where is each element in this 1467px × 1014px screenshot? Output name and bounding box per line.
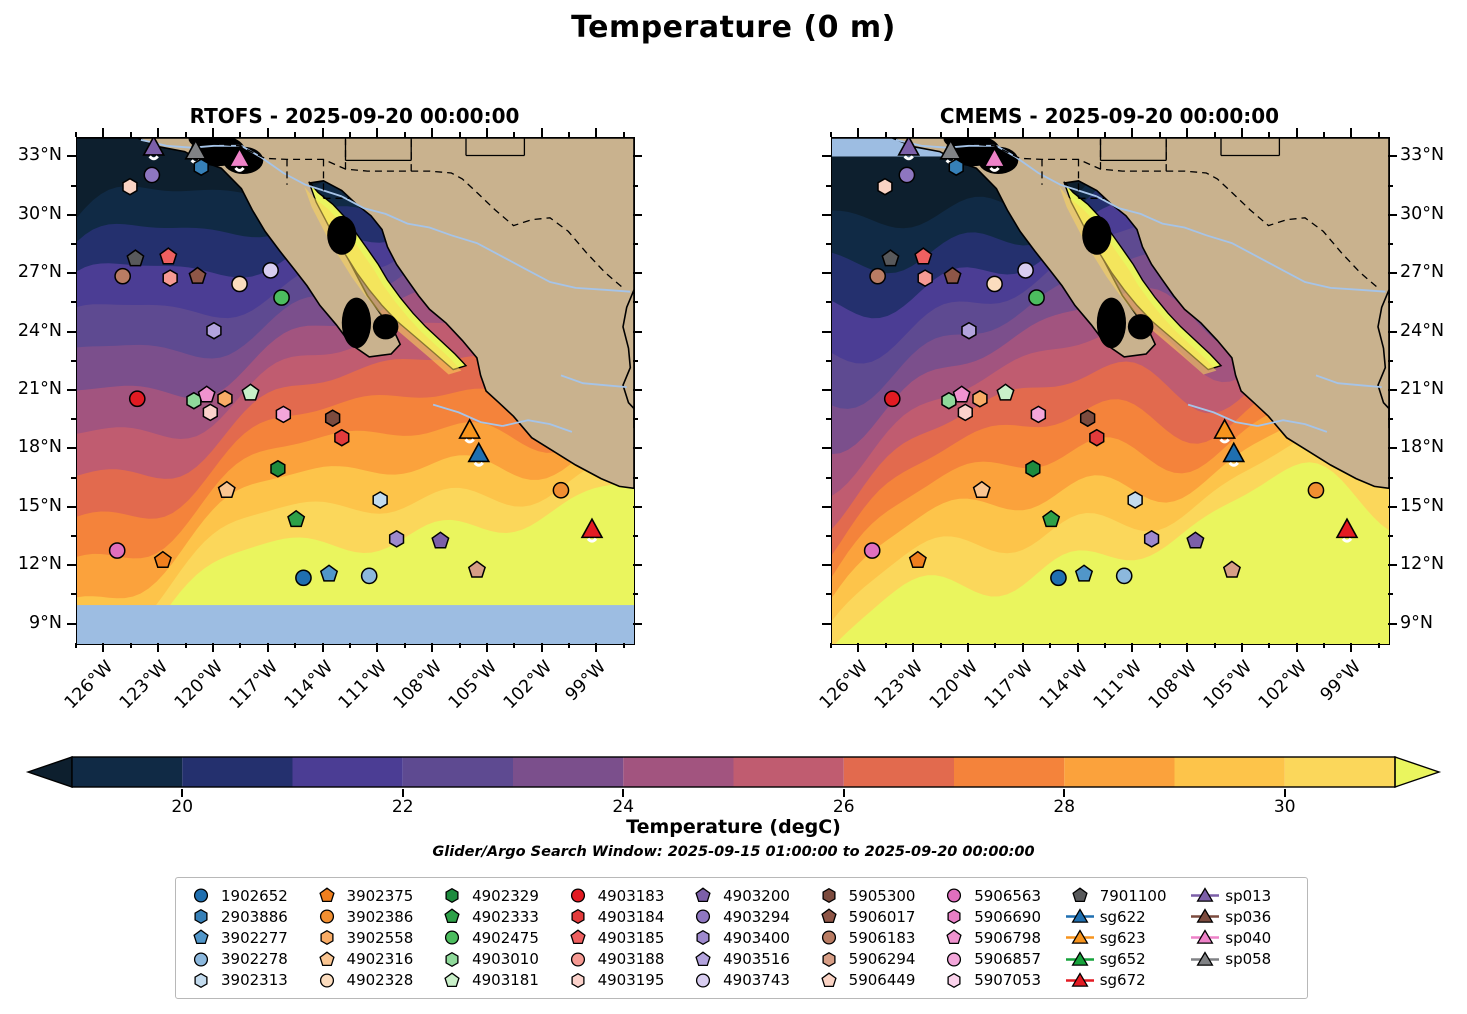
- legend-item-5906690[interactable]: 5906690: [937, 906, 1063, 927]
- lat-tick-major: [822, 564, 831, 566]
- lon-tick-minor: [404, 643, 406, 648]
- lat-tick-major: [1388, 623, 1397, 625]
- lon-tick-minor: [830, 132, 832, 137]
- lon-tick-minor: [623, 132, 625, 137]
- legend-column: 49031834903184490318549031884903195: [561, 885, 687, 991]
- map-marker: [962, 323, 976, 339]
- legend-label: 4903181: [469, 971, 539, 989]
- lat-tick-minor: [71, 301, 76, 303]
- lat-tick-minor: [826, 360, 831, 362]
- lat-label: 21°N: [1400, 379, 1467, 399]
- lat-tick-major: [67, 447, 76, 449]
- legend-marker-pentagon-icon: [937, 927, 971, 948]
- lon-tick-minor: [1268, 132, 1270, 137]
- legend-label: 4903183: [595, 887, 665, 905]
- legend-item-3902277[interactable]: 3902277: [184, 927, 310, 948]
- legend-item-5907053[interactable]: 5907053: [937, 970, 1063, 991]
- lat-tick-minor: [826, 185, 831, 187]
- lon-tick-major: [1296, 128, 1298, 137]
- lon-tick-major: [1241, 643, 1243, 652]
- lon-tick-minor: [940, 643, 942, 648]
- legend-item-5906017[interactable]: 5906017: [812, 906, 938, 927]
- legend-item-4903184[interactable]: 4903184: [561, 906, 687, 927]
- lon-tick-major: [431, 643, 433, 652]
- lon-tick-major: [1186, 128, 1188, 137]
- lon-tick-minor: [1159, 132, 1161, 137]
- legend-marker-pentagon-icon: [812, 906, 846, 927]
- legend-label: 1902652: [218, 887, 288, 905]
- panel-title-cmems: CMEMS - 2025-09-20 00:00:00: [831, 104, 1388, 128]
- legend-item-3902313[interactable]: 3902313: [184, 970, 310, 991]
- legend-marker-triangle-icon: [1063, 949, 1097, 970]
- lat-tick-major: [633, 564, 642, 566]
- page-title: Temperature (0 m): [0, 10, 1467, 45]
- legend-label: 4902329: [469, 887, 539, 905]
- lat-tick-major: [633, 389, 642, 391]
- map-marker: [130, 391, 145, 406]
- lat-label: 24°N: [1400, 321, 1467, 341]
- lat-tick-minor: [1388, 593, 1393, 595]
- map-marker: [326, 410, 340, 426]
- lat-tick-minor: [1388, 185, 1393, 187]
- lon-tick-major: [912, 128, 914, 137]
- lat-tick-major: [1388, 214, 1397, 216]
- legend-marker-pentagon-icon: [435, 906, 469, 927]
- lat-tick-minor: [633, 185, 638, 187]
- legend-item-4903294[interactable]: 4903294: [686, 906, 812, 927]
- lat-tick-minor: [1388, 477, 1393, 479]
- legend-marker-hexagon-icon: [937, 906, 971, 927]
- legend-item-5906294[interactable]: 5906294: [812, 949, 938, 970]
- lon-tick-minor: [885, 643, 887, 648]
- lon-tick-minor: [1214, 643, 1216, 648]
- legend-item-1902652[interactable]: 1902652: [184, 885, 310, 906]
- map-marker: [276, 406, 290, 422]
- colorbar-tick: [622, 789, 624, 797]
- legend-item-4902333[interactable]: 4902333: [435, 906, 561, 927]
- platform-legend: 1902652290388639022773902278390231339023…: [175, 877, 1308, 999]
- lat-tick-major: [1388, 447, 1397, 449]
- lon-tick-major: [1241, 128, 1243, 137]
- legend-label: 4903294: [720, 908, 790, 926]
- lat-tick-minor: [1388, 418, 1393, 420]
- legend-item-sp040[interactable]: sp040: [1188, 927, 1299, 948]
- legend-label: 3902386: [344, 908, 414, 926]
- lon-tick-minor: [568, 643, 570, 648]
- legend-label: 3902278: [218, 950, 288, 968]
- lat-label: 30°N: [1400, 204, 1467, 224]
- colorbar-tick: [1063, 789, 1065, 797]
- lat-tick-minor: [633, 535, 638, 537]
- lat-tick-major: [633, 155, 642, 157]
- lon-tick-major: [541, 128, 543, 137]
- legend-item-4903516[interactable]: 4903516: [686, 949, 812, 970]
- lon-tick-major: [1077, 128, 1079, 137]
- legend-marker-hexagon-icon: [435, 949, 469, 970]
- legend-marker-triangle-icon: [1063, 970, 1097, 991]
- legend-item-5905300[interactable]: 5905300: [812, 885, 938, 906]
- legend-marker-hexagon-icon: [184, 906, 218, 927]
- legend-marker-circle-icon: [184, 885, 218, 906]
- legend-item-5906563[interactable]: 5906563: [937, 885, 1063, 906]
- map-marker: [1128, 492, 1142, 508]
- legend-label: 3902375: [344, 887, 414, 905]
- map-marker: [271, 461, 285, 477]
- lon-tick-minor: [623, 643, 625, 648]
- legend-marker-circle-icon: [561, 885, 595, 906]
- legend-label: 4903185: [595, 929, 665, 947]
- legend-marker-hexagon-icon: [435, 885, 469, 906]
- legend-label: 5906798: [971, 929, 1041, 947]
- legend-item-4903195[interactable]: 4903195: [561, 970, 687, 991]
- legend-label: 5906857: [971, 950, 1041, 968]
- lon-tick-minor: [130, 132, 132, 137]
- lon-tick-major: [102, 643, 104, 652]
- legend-marker-circle-icon: [937, 885, 971, 906]
- legend-item-3902278[interactable]: 3902278: [184, 949, 310, 970]
- lat-tick-major: [67, 389, 76, 391]
- lat-tick-minor: [71, 360, 76, 362]
- legend-label: sp058: [1222, 950, 1271, 968]
- map-marker: [335, 430, 349, 446]
- map-panel-cmems[interactable]: [831, 137, 1390, 645]
- lon-tick-minor: [239, 132, 241, 137]
- lon-tick-major: [157, 643, 159, 652]
- map-marker: [918, 270, 932, 286]
- lat-tick-major: [1388, 155, 1397, 157]
- search-window-subtitle: Glider/Argo Search Window: 2025-09-15 01…: [0, 844, 1467, 860]
- lat-tick-major: [633, 447, 642, 449]
- legend-marker-pentagon-icon: [435, 970, 469, 991]
- lat-tick-minor: [633, 418, 638, 420]
- lat-tick-minor: [71, 418, 76, 420]
- legend-item-3902558[interactable]: 3902558: [310, 927, 436, 948]
- map-marker: [1031, 406, 1045, 422]
- legend-label: sg652: [1097, 950, 1146, 968]
- lon-tick-minor: [1104, 643, 1106, 648]
- lat-tick-major: [822, 623, 831, 625]
- legend-marker-circle-icon: [435, 927, 469, 948]
- lon-tick-minor: [239, 643, 241, 648]
- lon-tick-major: [376, 643, 378, 652]
- legend-marker-hexagon-icon: [812, 949, 846, 970]
- lon-tick-minor: [1378, 643, 1380, 648]
- lon-tick-major: [212, 128, 214, 137]
- legend-item-5906798[interactable]: 5906798: [937, 927, 1063, 948]
- lat-tick-major: [67, 506, 76, 508]
- legend-item-4903400[interactable]: 4903400: [686, 927, 812, 948]
- lat-tick-major: [822, 331, 831, 333]
- legend-label: sp036: [1222, 908, 1271, 926]
- lon-tick-minor: [994, 132, 996, 137]
- legend-label: 2903886: [218, 908, 288, 926]
- lon-tick-minor: [130, 643, 132, 648]
- map-marker: [1117, 568, 1132, 583]
- lon-tick-minor: [513, 643, 515, 648]
- map-marker: [163, 270, 177, 286]
- legend-marker-pentagon-icon: [310, 885, 344, 906]
- panel-title-rtofs: RTOFS - 2025-09-20 00:00:00: [76, 104, 633, 128]
- legend-item-sg623[interactable]: sg623: [1063, 927, 1189, 948]
- lat-tick-major: [1388, 331, 1397, 333]
- legend-column: sp013sp036sp040sp058: [1188, 885, 1299, 991]
- map-marker: [1308, 483, 1323, 498]
- map-marker: [1026, 461, 1040, 477]
- lat-tick-minor: [1388, 360, 1393, 362]
- lat-tick-major: [633, 272, 642, 274]
- lat-tick-major: [67, 564, 76, 566]
- lon-tick-major: [595, 128, 597, 137]
- legend-label: 3902558: [344, 929, 414, 947]
- lon-tick-minor: [185, 132, 187, 137]
- lon-tick-minor: [885, 132, 887, 137]
- legend-marker-circle-icon: [310, 906, 344, 927]
- legend-marker-triangle-icon: [1188, 906, 1222, 927]
- legend-item-3902375[interactable]: 3902375: [310, 885, 436, 906]
- legend-marker-hexagon-icon: [686, 927, 720, 948]
- legend-item-4903743[interactable]: 4903743: [686, 970, 812, 991]
- lon-tick-minor: [459, 643, 461, 648]
- lon-tick-major: [1022, 128, 1024, 137]
- legend-item-sg622[interactable]: sg622: [1063, 906, 1189, 927]
- map-marker: [207, 323, 221, 339]
- legend-label: 4902475: [469, 929, 539, 947]
- map-marker: [1029, 290, 1044, 305]
- legend-label: 4903516: [720, 950, 790, 968]
- legend-label: 4903200: [720, 887, 790, 905]
- lon-tick-minor: [1049, 643, 1051, 648]
- lat-tick-minor: [826, 477, 831, 479]
- legend-label: 5906183: [846, 929, 916, 947]
- legend-item-4903188[interactable]: 4903188: [561, 949, 687, 970]
- legend-label: 4902328: [344, 971, 414, 989]
- legend-item-7901100[interactable]: 7901100: [1063, 885, 1189, 906]
- lat-label: 24°N: [0, 321, 62, 341]
- lon-tick-major: [1350, 643, 1352, 652]
- legend-label: 3902277: [218, 929, 288, 947]
- legend-label: 4903184: [595, 908, 665, 926]
- lat-label: 15°N: [0, 496, 62, 516]
- lon-tick-major: [912, 643, 914, 652]
- legend-item-4903185[interactable]: 4903185: [561, 927, 687, 948]
- lat-tick-major: [1388, 389, 1397, 391]
- lon-tick-minor: [1268, 643, 1270, 648]
- legend-marker-hexagon-icon: [812, 885, 846, 906]
- lat-tick-major: [822, 447, 831, 449]
- legend-item-5906857[interactable]: 5906857: [937, 949, 1063, 970]
- lon-tick-major: [541, 643, 543, 652]
- lon-tick-minor: [75, 643, 77, 648]
- map-marker: [553, 483, 568, 498]
- legend-marker-hexagon-icon: [310, 927, 344, 948]
- legend-item-3902386[interactable]: 3902386: [310, 906, 436, 927]
- legend-label: 5905300: [846, 887, 916, 905]
- lon-tick-major: [1186, 643, 1188, 652]
- map-marker: [1081, 410, 1095, 426]
- lat-tick-minor: [826, 535, 831, 537]
- lon-tick-minor: [513, 132, 515, 137]
- colorbar-tick: [181, 789, 183, 797]
- legend-column: 49023294902333490247549030104903181: [435, 885, 561, 991]
- lat-tick-minor: [633, 593, 638, 595]
- legend-marker-circle-icon: [184, 949, 218, 970]
- legend-item-5906183[interactable]: 5906183: [812, 927, 938, 948]
- map-marker: [115, 269, 130, 284]
- lat-tick-minor: [1388, 301, 1393, 303]
- lat-tick-minor: [826, 243, 831, 245]
- lon-tick-major: [1350, 128, 1352, 137]
- legend-marker-hexagon-icon: [184, 970, 218, 991]
- legend-column: 49032004903294490340049035164903743: [686, 885, 812, 991]
- lon-tick-major: [157, 128, 159, 137]
- legend-marker-pentagon-icon: [812, 970, 846, 991]
- legend-item-4902475[interactable]: 4902475: [435, 927, 561, 948]
- legend-column: 59053005906017590618359062945906449: [812, 885, 938, 991]
- lon-tick-minor: [75, 132, 77, 137]
- legend-item-sg672[interactable]: sg672: [1063, 970, 1189, 991]
- lon-tick-major: [212, 643, 214, 652]
- legend-item-4902329[interactable]: 4902329: [435, 885, 561, 906]
- lat-tick-major: [67, 214, 76, 216]
- lon-tick-minor: [185, 643, 187, 648]
- lat-tick-minor: [633, 243, 638, 245]
- legend-marker-triangle-icon: [1063, 927, 1097, 948]
- legend-marker-triangle-icon: [1188, 949, 1222, 970]
- lat-tick-minor: [633, 360, 638, 362]
- legend-item-sp058[interactable]: sp058: [1188, 949, 1299, 970]
- lat-label: 21°N: [0, 379, 62, 399]
- lat-tick-major: [67, 272, 76, 274]
- lat-label: 33°N: [1400, 145, 1467, 165]
- lat-tick-major: [633, 214, 642, 216]
- legend-marker-pentagon-icon: [686, 949, 720, 970]
- lon-tick-minor: [940, 132, 942, 137]
- map-marker: [110, 543, 125, 558]
- map-marker: [1051, 570, 1066, 585]
- map-marker: [218, 391, 232, 407]
- legend-column: 39023753902386390255849023164902328: [310, 885, 436, 991]
- legend-label: 4902316: [344, 950, 414, 968]
- lat-tick-major: [67, 623, 76, 625]
- legend-item-sp036[interactable]: sp036: [1188, 906, 1299, 927]
- legend-column: 59065635906690590679859068575907053: [937, 885, 1063, 991]
- colorbar-tick: [843, 789, 845, 797]
- legend-column: 7901100sg622sg623sg652sg672: [1063, 885, 1189, 991]
- lat-tick-minor: [633, 477, 638, 479]
- legend-label: 4903195: [595, 971, 665, 989]
- lon-tick-minor: [830, 643, 832, 648]
- legend-label: 7901100: [1097, 887, 1167, 905]
- lat-tick-minor: [1388, 535, 1393, 537]
- lat-tick-minor: [826, 301, 831, 303]
- legend-marker-pentagon-icon: [1063, 885, 1097, 906]
- lat-label: 18°N: [1400, 437, 1467, 457]
- legend-label: 4903188: [595, 950, 665, 968]
- lon-tick-major: [267, 128, 269, 137]
- lat-tick-minor: [826, 418, 831, 420]
- legend-label: 5906294: [846, 950, 916, 968]
- lat-label: 12°N: [1400, 554, 1467, 574]
- legend-label: sp040: [1222, 929, 1271, 947]
- lon-tick-major: [1077, 643, 1079, 652]
- lon-tick-minor: [404, 132, 406, 137]
- lon-tick-minor: [349, 643, 351, 648]
- legend-item-5906449[interactable]: 5906449: [812, 970, 938, 991]
- lat-label: 30°N: [0, 204, 62, 224]
- lat-tick-minor: [71, 185, 76, 187]
- lon-tick-major: [1296, 643, 1298, 652]
- legend-label: 5906690: [971, 908, 1041, 926]
- colorbar-title: Temperature (degC): [0, 816, 1467, 838]
- lon-tick-minor: [1104, 132, 1106, 137]
- colorbar-tick-label: 30: [1255, 797, 1315, 817]
- lat-tick-major: [633, 331, 642, 333]
- lat-label: 18°N: [0, 437, 62, 457]
- map-marker: [878, 179, 892, 195]
- lat-label: 12°N: [0, 554, 62, 574]
- colorbar-tick-label: 22: [373, 797, 433, 817]
- map-marker: [1090, 430, 1104, 446]
- lon-tick-minor: [1049, 132, 1051, 137]
- lon-tick-minor: [349, 132, 351, 137]
- colorbar-tick-label: 26: [814, 797, 874, 817]
- legend-item-4903183[interactable]: 4903183: [561, 885, 687, 906]
- lat-tick-minor: [71, 243, 76, 245]
- lat-tick-major: [822, 506, 831, 508]
- lon-tick-minor: [568, 132, 570, 137]
- colorbar-tick-label: 28: [1034, 797, 1094, 817]
- lat-tick-major: [633, 623, 642, 625]
- lat-label: 27°N: [1400, 262, 1467, 282]
- legend-marker-pentagon-icon: [310, 949, 344, 970]
- lat-tick-major: [822, 272, 831, 274]
- legend-item-4903010[interactable]: 4903010: [435, 949, 561, 970]
- legend-marker-hexagon-icon: [937, 970, 971, 991]
- map-marker: [123, 179, 137, 195]
- legend-item-sg652[interactable]: sg652: [1063, 949, 1189, 970]
- legend-item-4903200[interactable]: 4903200: [686, 885, 812, 906]
- lat-tick-minor: [1388, 243, 1393, 245]
- lat-label: 9°N: [0, 613, 62, 633]
- legend-label: 5906563: [971, 887, 1041, 905]
- legend-label: sg623: [1097, 929, 1146, 947]
- map-marker: [885, 391, 900, 406]
- legend-marker-pentagon-icon: [184, 927, 218, 948]
- map-marker: [1145, 531, 1159, 547]
- map-panel-rtofs[interactable]: [76, 137, 635, 645]
- legend-item-sp013[interactable]: sp013: [1188, 885, 1299, 906]
- legend-item-2903886[interactable]: 2903886: [184, 906, 310, 927]
- map-marker: [203, 404, 217, 420]
- lon-tick-major: [967, 643, 969, 652]
- lon-tick-major: [1131, 128, 1133, 137]
- lon-tick-minor: [294, 643, 296, 648]
- map-marker: [870, 269, 885, 284]
- legend-label: 5906017: [846, 908, 916, 926]
- colorbar-tick-label: 24: [593, 797, 653, 817]
- legend-marker-triangle-icon: [1188, 885, 1222, 906]
- lat-tick-major: [67, 155, 76, 157]
- legend-item-4902316[interactable]: 4902316: [310, 949, 436, 970]
- legend-item-4903181[interactable]: 4903181: [435, 970, 561, 991]
- legend-item-4902328[interactable]: 4902328: [310, 970, 436, 991]
- lat-tick-major: [1388, 564, 1397, 566]
- lat-tick-major: [67, 331, 76, 333]
- legend-marker-pentagon-icon: [561, 927, 595, 948]
- legend-label: 4903400: [720, 929, 790, 947]
- map-marker: [390, 531, 404, 547]
- map-marker: [949, 159, 963, 175]
